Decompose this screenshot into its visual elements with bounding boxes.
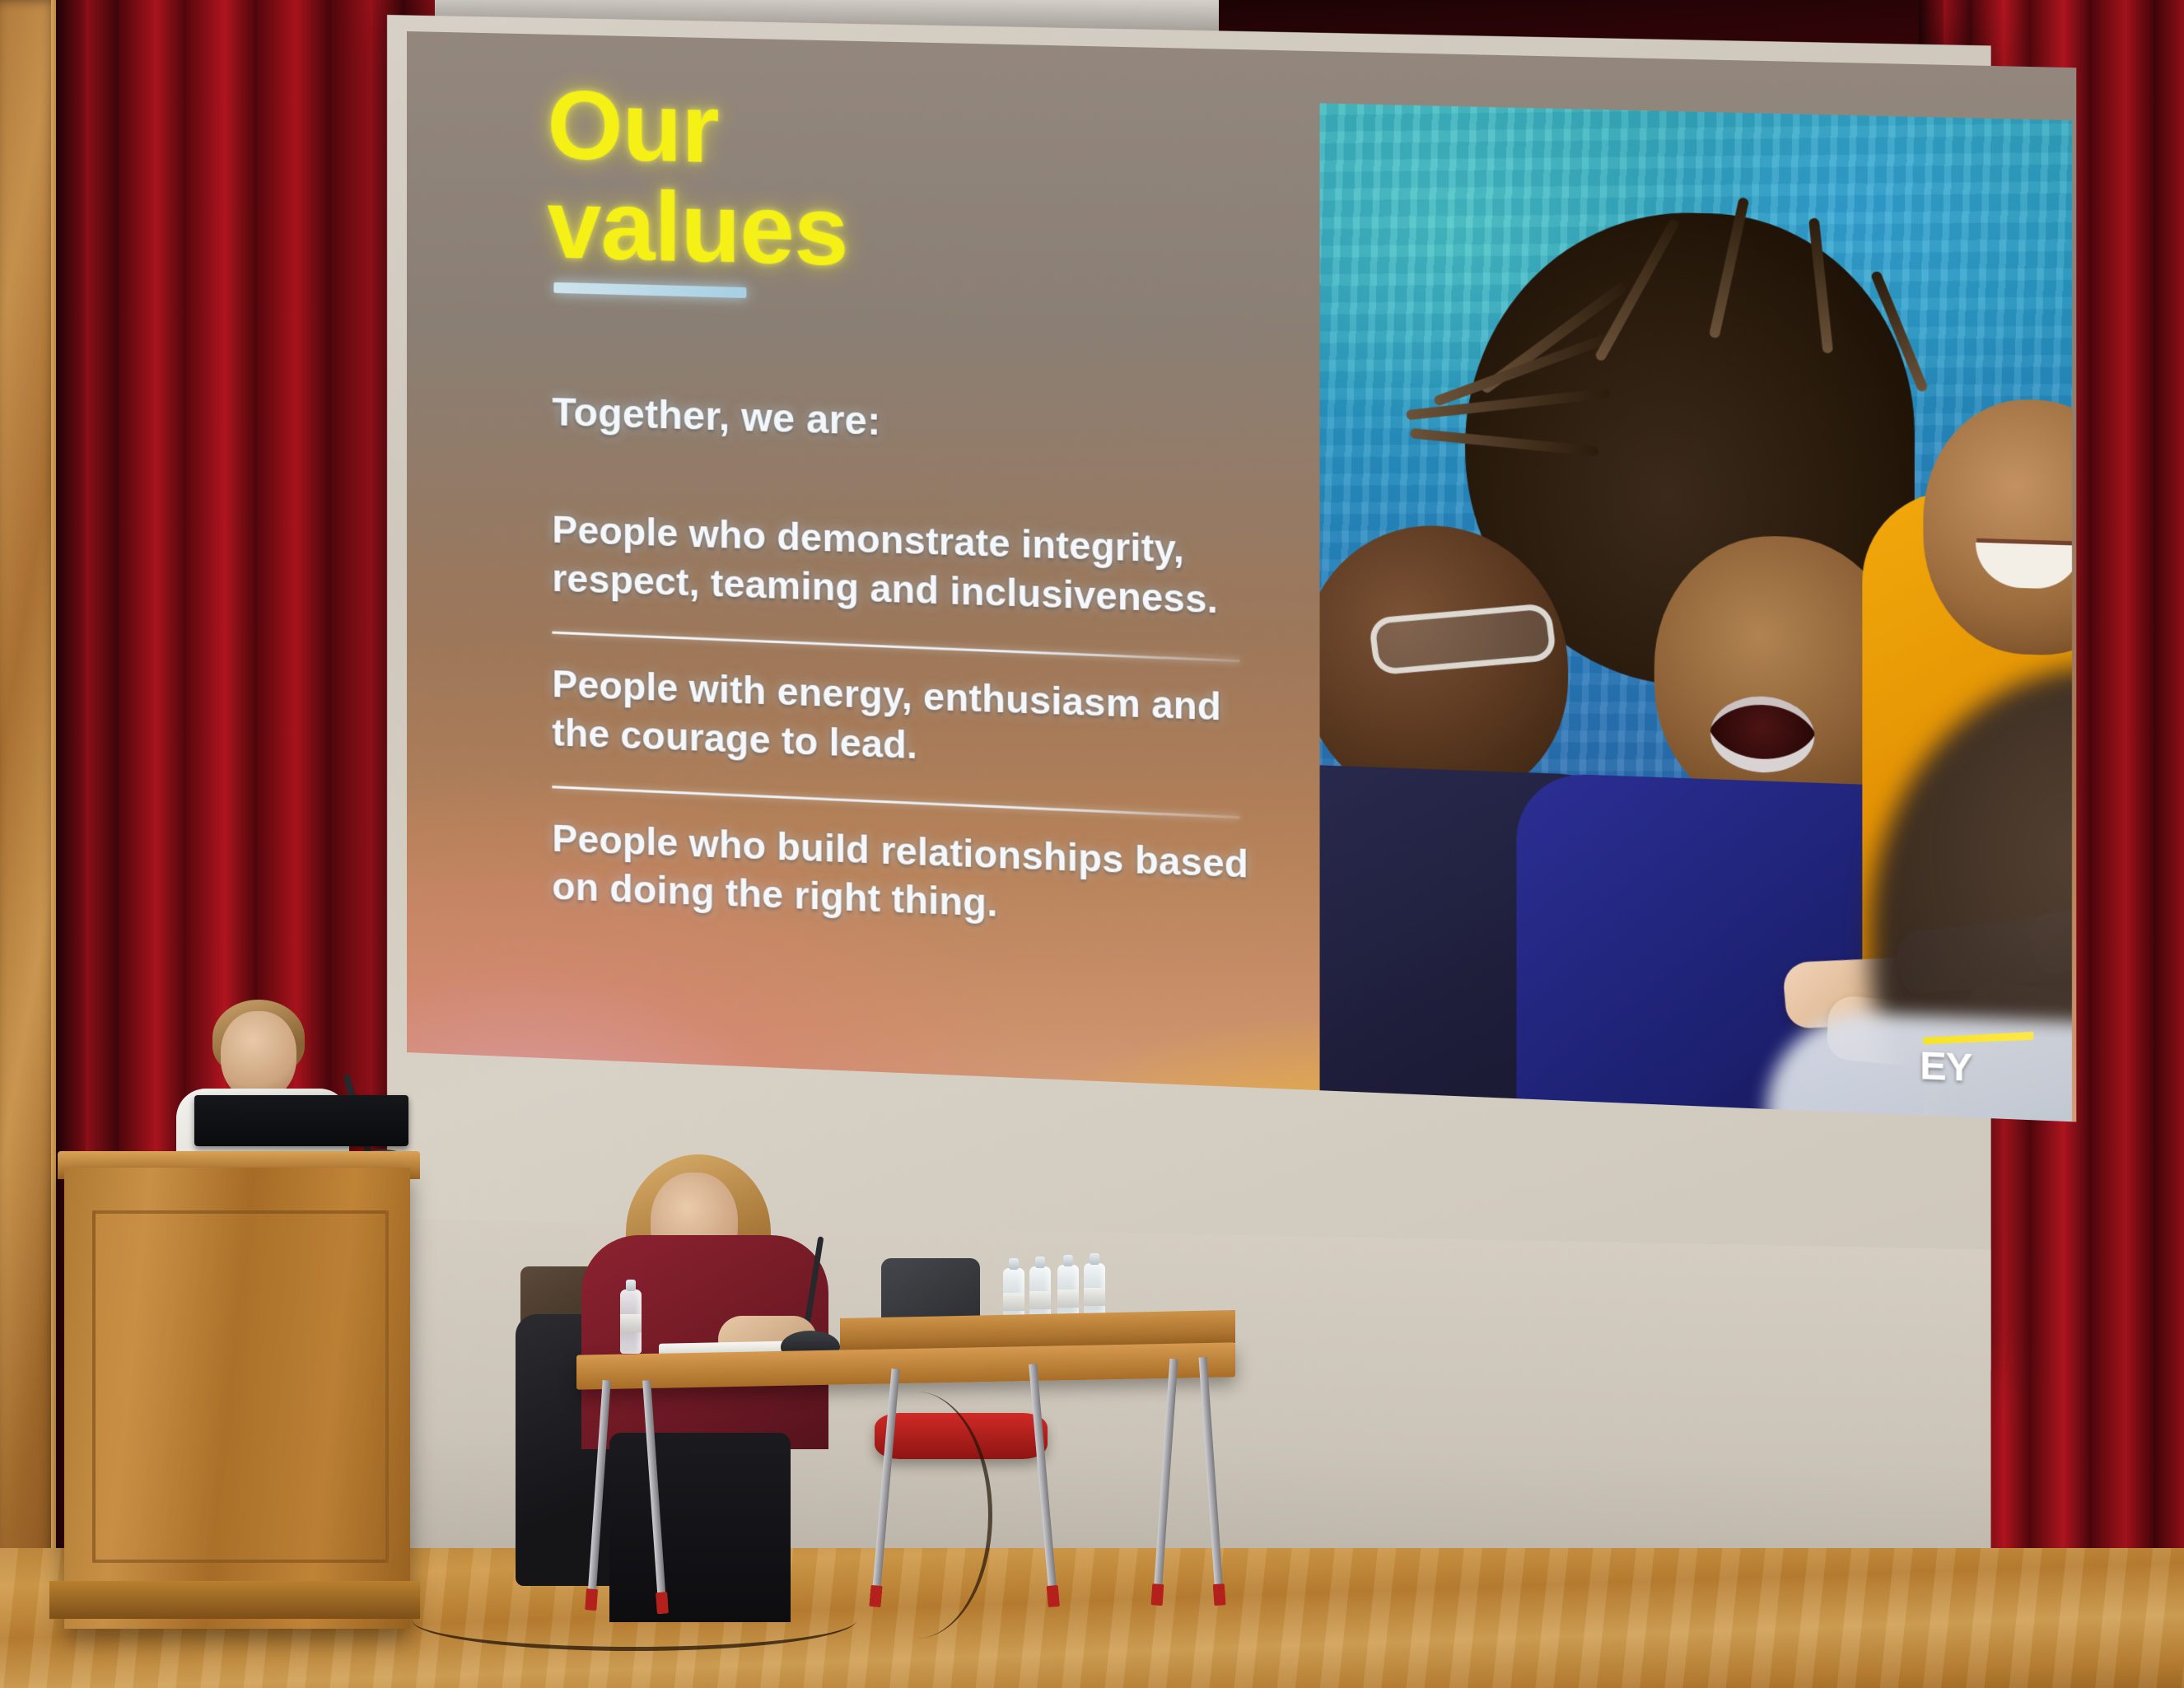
water-bottle: [620, 1289, 642, 1354]
floor-cable: [412, 1589, 856, 1651]
slide-photo: EY: [1320, 103, 2072, 1121]
projected-slide: Our values Together, we are: People who …: [407, 31, 2076, 1122]
value-item-1: People who demonstrate integrity, respec…: [552, 505, 1265, 639]
laptop: [194, 1095, 408, 1146]
bottle-label: [1084, 1288, 1105, 1306]
slide-lead-text: Together, we are:: [552, 389, 1239, 455]
ey-logo-text: EY: [1920, 1046, 1972, 1087]
value-item-3: People who build relationships based on …: [552, 814, 1265, 952]
left-wood-wall-panel: [0, 0, 58, 1564]
auditorium-scene: Our values Together, we are: People who …: [0, 0, 2184, 1688]
presenter-head: [221, 1011, 296, 1100]
bottle-label: [1057, 1289, 1079, 1308]
podium-front-panel: [92, 1210, 389, 1563]
bottle-label: [620, 1314, 642, 1332]
values-list: People who demonstrate integrity, respec…: [552, 505, 1265, 952]
value-item-2: People with energy, enthusiasm and the c…: [552, 660, 1265, 795]
microphone-cable: [840, 1392, 992, 1639]
title-accent-rule: [553, 282, 746, 298]
slide-title: Our values: [547, 76, 1183, 291]
value-divider-1: [552, 631, 1239, 661]
bottle-label: [1029, 1291, 1051, 1309]
bottle-label: [1003, 1293, 1024, 1311]
podium-base: [49, 1581, 420, 1619]
ey-logo: EY: [1916, 1010, 2047, 1093]
